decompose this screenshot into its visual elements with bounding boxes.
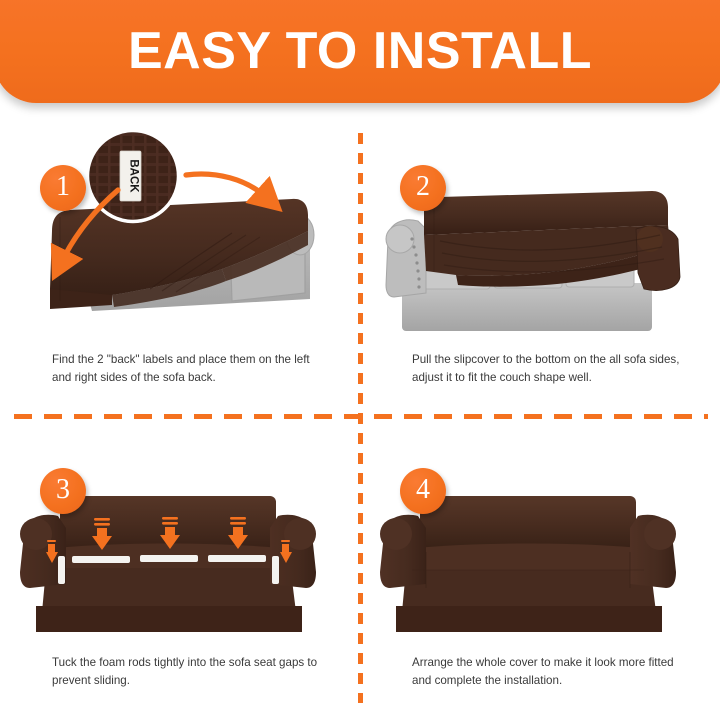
step-3-illustration [0, 416, 360, 656]
step-caption-3: Tuck the foam rods tightly into the sofa… [52, 654, 324, 690]
step-badge-4: 4 [400, 468, 446, 514]
step-number-1: 1 [56, 173, 70, 203]
steps-grid: BACK 1 Find the 2 "back" labels and plac… [0, 113, 720, 720]
step-badge-3: 3 [40, 468, 86, 514]
step-number-3: 3 [56, 476, 70, 506]
header-banner: EASY TO INSTALL [0, 0, 720, 103]
step-badge-1: 1 [40, 165, 86, 211]
sofa-skirt [396, 606, 662, 632]
curved-arrow-right [186, 174, 266, 197]
step-caption-2: Pull the slipcover to the bottom on the … [412, 351, 684, 387]
back-label-text: BACK [128, 159, 140, 193]
step-2-illustration [360, 113, 720, 353]
step-caption-4: Arrange the whole cover to make it look … [412, 654, 684, 690]
page-title: EASY TO INSTALL [128, 25, 592, 77]
sofa-skirt [36, 606, 302, 632]
step-number-2: 2 [416, 173, 430, 203]
step-panel-4: 4 Arrange the whole cover to make it loo… [360, 416, 720, 719]
step-panel-1: BACK 1 Find the 2 "back" labels and plac… [0, 113, 360, 416]
step-number-4: 4 [416, 476, 430, 506]
step-panel-2: 2 Pull the slipcover to the bottom on th… [360, 113, 720, 416]
step-panel-3: 3 Tuck the foam rods tightly into the so… [0, 416, 360, 719]
step-caption-1: Find the 2 "back" labels and place them … [52, 351, 324, 387]
step-badge-2: 2 [400, 165, 446, 211]
step-1-illustration: BACK [0, 113, 360, 353]
step-4-illustration [360, 416, 720, 656]
brown-slipcover-pulled [424, 191, 680, 291]
